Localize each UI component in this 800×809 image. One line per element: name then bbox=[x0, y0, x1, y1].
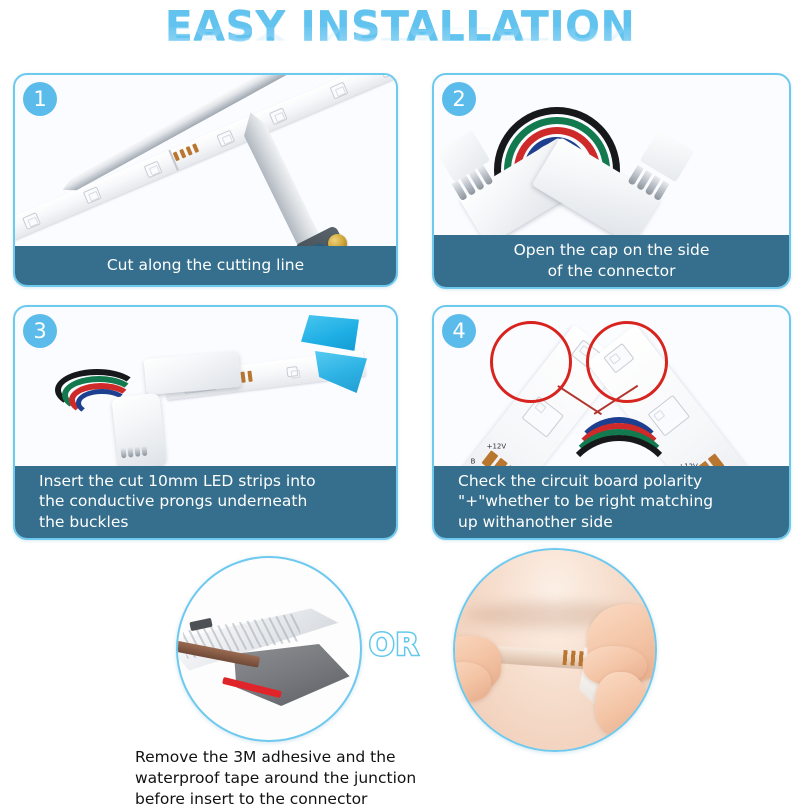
step-caption-3: Insert the cut 10mm LED strips into the … bbox=[15, 466, 396, 538]
led-strip-graphic bbox=[15, 75, 396, 246]
page-title-reflection: EASY INSTALLATION bbox=[0, 22, 800, 44]
step-caption-3-text: Insert the cut 10mm LED strips into the … bbox=[39, 471, 386, 533]
step-caption-1: Cut along the cutting line bbox=[15, 246, 396, 285]
step-caption-4-text: Check the circuit board polarity "+"whet… bbox=[458, 471, 779, 533]
step-panel-4: +12V B +12V B 4 Check bbox=[432, 305, 791, 540]
step-caption-1-text: Cut along the cutting line bbox=[25, 255, 386, 276]
step-number-badge-3: 3 bbox=[23, 314, 57, 348]
pad-label-b-left: B bbox=[471, 457, 476, 465]
step-panel-1: 1 Cut along the cutting line bbox=[13, 73, 398, 287]
polarity-highlight-circle-right bbox=[586, 321, 668, 403]
step-panel-3: 3 Insert the cut 10mm LED strips into th… bbox=[13, 305, 398, 540]
polarity-highlight-circle-left bbox=[490, 321, 572, 403]
right-thumb bbox=[595, 672, 647, 738]
step-panel-2: 2 Open the cap on the side of the connec… bbox=[432, 73, 791, 289]
pad-label-plus12v-left: +12V bbox=[487, 443, 507, 451]
peeled-backing-layer bbox=[234, 644, 352, 706]
step-number-badge-1: 1 bbox=[23, 82, 57, 116]
waterproof-tape-photo bbox=[453, 548, 657, 752]
connector-cap-open bbox=[111, 393, 166, 470]
adhesive-removal-photo bbox=[176, 556, 362, 742]
step-number-badge-4: 4 bbox=[442, 314, 476, 348]
or-separator-label: OR bbox=[369, 628, 420, 663]
step-caption-2-text: Open the cap on the side of the connecto… bbox=[444, 240, 779, 281]
step-caption-4: Check the circuit board polarity "+"whet… bbox=[434, 466, 789, 538]
step-caption-2: Open the cap on the side of the connecto… bbox=[434, 235, 789, 287]
step-number-badge-2: 2 bbox=[442, 82, 476, 116]
page-title-block: EASY INSTALLATION EASY INSTALLATION bbox=[0, 0, 800, 62]
